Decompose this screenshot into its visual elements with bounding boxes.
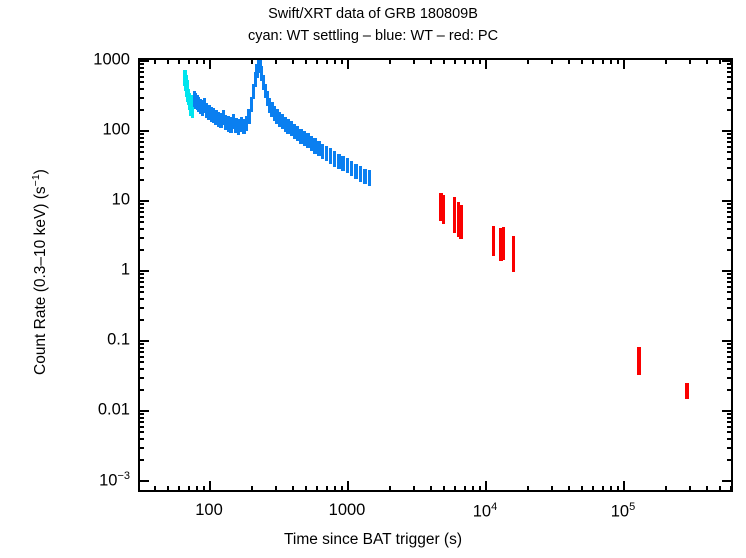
axis-tick [209,58,211,69]
axis-tick [138,351,144,353]
axis-tick [138,211,144,213]
axis-tick [727,298,733,300]
axis-tick [581,58,583,64]
axis-tick [138,361,144,363]
axis-tick [727,63,733,65]
axis-tick [138,81,144,83]
axis-tick [479,58,481,64]
axis-tick [138,67,144,69]
axis-tick [389,486,391,492]
axis-tick [727,133,733,135]
axis-tick [727,347,733,349]
axis-tick [727,417,733,419]
axis-tick [138,368,144,370]
axis-tick [196,58,198,64]
axis-tick [722,200,733,202]
axis-tick [727,351,733,353]
axis-tick [727,431,733,433]
y-tick-label: 10 [56,191,130,210]
axis-tick [443,58,445,64]
axis-tick [138,146,144,148]
axis-tick [138,356,144,358]
axis-tick [727,109,733,111]
axis-tick [727,291,733,293]
axis-tick [138,343,144,345]
axis-tick [413,58,415,64]
axis-tick [727,389,733,391]
axis-tick [138,319,144,321]
axis-tick [138,203,144,205]
axis-tick [167,58,169,64]
axis-tick [727,307,733,309]
axis-tick [275,486,277,492]
axis-tick [347,481,349,492]
axis-tick [138,200,149,202]
axis-tick [689,58,691,64]
x-tick-group [138,58,733,492]
axis-tick [326,58,328,64]
axis-tick [485,481,487,492]
axis-tick [722,270,733,272]
axis-tick [727,81,733,83]
axis-tick [568,486,570,492]
axis-tick [138,347,144,349]
axis-tick [138,459,144,461]
axis-tick [138,421,144,423]
axis-tick [203,58,205,64]
axis-tick [413,486,415,492]
axis-tick [727,277,733,279]
axis-tick [485,58,487,69]
axis-tick [581,486,583,492]
y-tick-label: 100 [56,121,130,140]
axis-tick [602,486,604,492]
axis-tick [454,58,456,64]
axis-tick [138,151,144,153]
y-axis-title: Count Rate (0.3–10 keV) (s−1) [30,62,50,482]
axis-tick [209,481,211,492]
axis-tick [727,158,733,160]
axis-tick [138,413,144,415]
axis-tick [727,356,733,358]
axis-tick [472,486,474,492]
axis-tick [727,88,733,90]
axis-tick [551,486,553,492]
axis-tick [727,167,733,169]
axis-tick [727,76,733,78]
axis-tick [719,486,721,492]
axis-tick [167,486,169,492]
axis-tick [341,58,343,64]
axis-tick [316,58,318,64]
y-tick-label: 0.01 [56,401,130,420]
y-axis-title-main: Count Rate (0.3–10 keV) (s [32,186,49,375]
axis-tick [430,486,432,492]
x-tick-label: 1000 [329,501,366,520]
axis-tick [727,211,733,213]
axis-tick [727,237,733,239]
axis-tick [727,273,733,275]
chart-canvas: Swift/XRT data of GRB 180809B cyan: WT s… [0,0,746,558]
axis-tick [138,270,149,272]
axis-tick [727,281,733,283]
axis-tick [727,203,733,205]
axis-tick [305,486,307,492]
axis-tick [722,340,733,342]
axis-tick [592,58,594,64]
chart-title: Swift/XRT data of GRB 180809B [0,6,746,22]
axis-tick [138,207,144,209]
axis-tick [454,486,456,492]
axis-tick [138,167,144,169]
axis-tick [196,486,198,492]
x-axis-title: Time since BAT trigger (s) [0,531,746,549]
axis-tick [334,486,336,492]
axis-tick [722,410,733,412]
axis-tick [316,486,318,492]
axis-tick [727,221,733,223]
x-tick-label: 100 [195,501,223,520]
axis-tick [188,486,190,492]
axis-tick [275,58,277,64]
axis-tick [727,459,733,461]
axis-tick [305,58,307,64]
axis-tick [727,368,733,370]
axis-tick [722,60,733,62]
axis-tick [138,141,144,143]
axis-tick [610,486,612,492]
y-tick-label: 1000 [56,51,130,70]
axis-tick [138,97,144,99]
axis-tick [138,137,144,139]
axis-tick [464,486,466,492]
axis-tick [138,76,144,78]
axis-tick [727,216,733,218]
axis-tick [154,58,156,64]
axis-tick [138,237,144,239]
axis-tick [727,377,733,379]
axis-tick [251,486,253,492]
axis-tick [138,417,144,419]
axis-tick [623,58,625,69]
axis-tick [727,71,733,73]
axis-tick [727,228,733,230]
axis-tick [430,58,432,64]
axis-tick [138,281,144,283]
axis-tick [138,298,144,300]
axis-tick [138,286,144,288]
axis-tick [138,63,144,65]
axis-tick [727,179,733,181]
axis-tick [623,481,625,492]
axis-tick [389,58,391,64]
axis-tick [138,340,149,342]
axis-tick [727,249,733,251]
x-tick-label: 104 [473,501,497,522]
axis-tick [138,216,144,218]
axis-tick [292,58,294,64]
axis-tick [706,486,708,492]
y-axis-title-tail: ) [32,169,49,174]
axis-tick [138,228,144,230]
axis-tick [138,109,144,111]
x-tick-label: 105 [611,501,635,522]
axis-tick [138,426,144,428]
axis-tick [727,447,733,449]
axis-tick [138,277,144,279]
axis-tick [138,130,149,132]
axis-tick [443,486,445,492]
axis-tick [334,58,336,64]
y-axis-title-exponent: −1 [30,174,42,186]
axis-tick [727,151,733,153]
axis-tick [665,58,667,64]
axis-tick [727,438,733,440]
y-tick-label: 10−3 [56,470,130,491]
axis-tick [138,480,149,482]
axis-tick [610,58,612,64]
axis-tick [138,377,144,379]
axis-tick [138,447,144,449]
axis-tick [602,58,604,64]
axis-tick [727,286,733,288]
axis-tick [138,431,144,433]
axis-tick [138,60,149,62]
axis-tick [341,486,343,492]
axis-tick [617,486,619,492]
axis-tick [727,207,733,209]
axis-tick [292,486,294,492]
axis-tick [706,58,708,64]
axis-tick [617,58,619,64]
axis-tick [472,58,474,64]
axis-tick [551,58,553,64]
axis-tick [727,137,733,139]
axis-tick [138,158,144,160]
axis-tick [154,486,156,492]
axis-tick [347,58,349,69]
axis-tick [138,249,144,251]
axis-tick [727,67,733,69]
axis-tick [722,480,733,482]
axis-tick [727,343,733,345]
axis-tick [568,58,570,64]
y-tick-label: 0.1 [56,331,130,350]
axis-tick [727,146,733,148]
axis-tick [592,486,594,492]
axis-tick [727,319,733,321]
axis-tick [138,133,144,135]
axis-tick [138,438,144,440]
axis-tick [138,179,144,181]
axis-tick [730,486,732,492]
axis-tick [727,141,733,143]
axis-tick [138,273,144,275]
y-tick-label: 1 [56,261,130,280]
axis-tick [464,58,466,64]
chart-legend-subtitle: cyan: WT settling – blue: WT – red: PC [0,28,746,44]
axis-tick [727,361,733,363]
axis-tick [138,307,144,309]
axis-tick [188,58,190,64]
axis-tick [138,221,144,223]
axis-tick [178,486,180,492]
axis-tick [251,58,253,64]
axis-tick [203,486,205,492]
axis-tick [727,97,733,99]
axis-tick [479,486,481,492]
axis-tick [138,291,144,293]
axis-tick [138,71,144,73]
axis-tick [689,486,691,492]
axis-tick [138,88,144,90]
axis-tick [727,421,733,423]
axis-tick [527,486,529,492]
axis-tick [722,130,733,132]
axis-tick [665,486,667,492]
axis-tick [326,486,328,492]
axis-tick [527,58,529,64]
axis-tick [178,58,180,64]
axis-tick [727,413,733,415]
axis-tick [138,410,149,412]
axis-tick [727,426,733,428]
axis-tick [138,389,144,391]
